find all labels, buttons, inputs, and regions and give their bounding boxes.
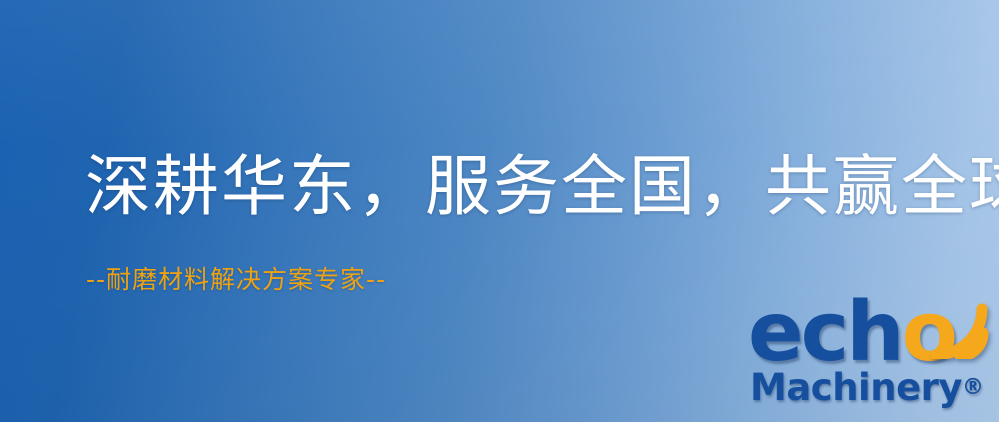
banner-subtitle: --耐磨材料解决方案专家--: [86, 265, 386, 295]
signal-arcs-icon: [920, 293, 994, 359]
promo-banner: 深耕华东，服务全国，共赢全球 --耐磨材料解决方案专家-- echo Machi…: [0, 0, 999, 422]
logo-tagline-text: Machinery: [750, 366, 962, 409]
logo-tagline: Machinery®: [750, 368, 984, 408]
company-logo[interactable]: echo Machinery®: [748, 296, 992, 420]
registered-trademark-icon: ®: [962, 375, 984, 400]
banner-headline: 深耕华东，服务全国，共赢全球: [85, 152, 999, 222]
